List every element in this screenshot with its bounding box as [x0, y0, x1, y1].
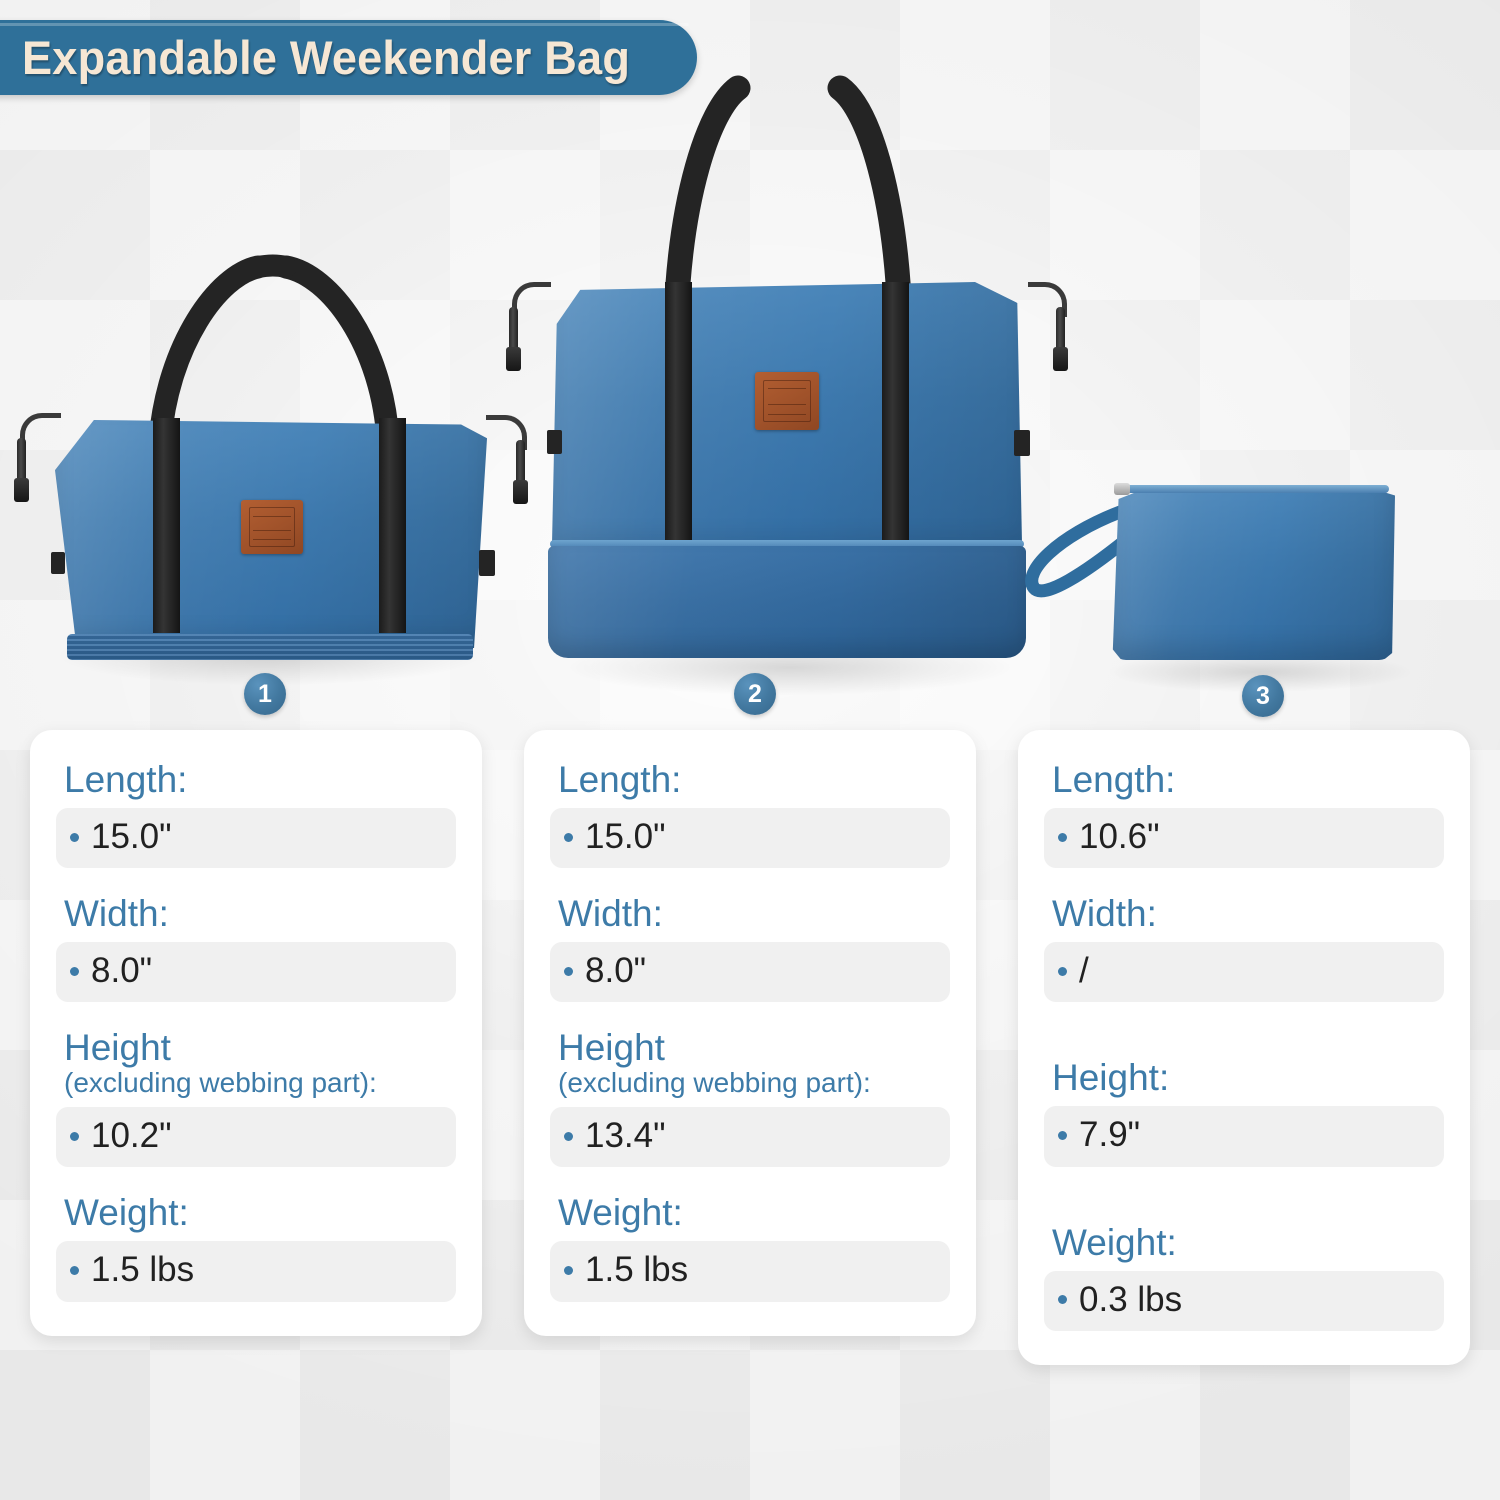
bullet-icon — [1058, 833, 1067, 842]
spec-row-weight: Weight: 1.5 lbs — [550, 1193, 950, 1301]
webbing-strap-right-2 — [882, 282, 909, 544]
spec-label-text: Height — [64, 1027, 171, 1068]
spec-row-width: Width: / — [1044, 894, 1444, 1002]
spec-label-weight: Weight: — [1052, 1223, 1444, 1263]
page-title: Expandable Weekender Bag — [22, 30, 630, 85]
badge-2: 2 — [734, 673, 776, 715]
spec-value-text: 0.3 lbs — [1079, 1280, 1182, 1320]
webbing-strap-left-2 — [665, 282, 692, 544]
spec-label-text: Length: — [1052, 759, 1175, 800]
bag-body-lower-2 — [548, 546, 1026, 658]
spec-value-text: 1.5 lbs — [91, 1250, 194, 1290]
spec-value-text: / — [1079, 951, 1089, 991]
zipper-slider-3 — [1114, 483, 1130, 495]
bullet-icon — [70, 833, 79, 842]
spec-row-length: Length: 15.0" — [550, 760, 950, 868]
bullet-icon — [564, 1132, 573, 1141]
spec-label-length: Length: — [1052, 760, 1444, 800]
bullet-icon — [70, 967, 79, 976]
bag-body-1 — [55, 420, 487, 648]
zipper-top-3 — [1118, 485, 1389, 493]
bullet-icon — [1058, 967, 1067, 976]
spec-value-weight: 1.5 lbs — [550, 1241, 950, 1301]
spec-label-length: Length: — [558, 760, 950, 800]
spec-label-text: Width: — [64, 893, 169, 934]
spec-label-text: Length: — [558, 759, 681, 800]
spec-value-width: 8.0" — [56, 942, 456, 1002]
bag-base-pleats-1 — [67, 634, 473, 660]
spec-value-weight: 1.5 lbs — [56, 1241, 456, 1301]
bullet-icon — [564, 833, 573, 842]
bullet-icon — [70, 1266, 79, 1275]
spec-label-text: Height: — [1052, 1057, 1169, 1098]
badge-3: 3 — [1242, 675, 1284, 717]
spec-label-text: Width: — [1052, 893, 1157, 934]
spec-label-width: Width: — [558, 894, 950, 934]
spec-value-text: 7.9" — [1079, 1115, 1140, 1155]
spec-value-length: 10.6" — [1044, 808, 1444, 868]
badge-1: 1 — [244, 673, 286, 715]
spec-value-text: 10.6" — [1079, 817, 1160, 857]
webbing-strap-right-1 — [379, 418, 406, 633]
bag-body-upper-2 — [552, 282, 1022, 544]
spec-row-height: Height (excluding webbing part): 10.2" — [56, 1028, 456, 1167]
bullet-icon — [564, 967, 573, 976]
spec-label-subtext: (excluding webbing part): — [558, 1068, 950, 1099]
spec-value-text: 8.0" — [91, 951, 152, 991]
spec-label-weight: Weight: — [558, 1193, 950, 1233]
leather-logo-patch-1 — [241, 500, 303, 554]
product-image-1: 1 — [0, 195, 545, 675]
spec-row-height: Height: 7.9" — [1044, 1058, 1444, 1166]
spec-row-width: Width: 8.0" — [56, 894, 456, 1002]
spec-label-text: Weight: — [1052, 1222, 1177, 1263]
product-image-3: 3 — [1000, 440, 1420, 680]
spec-value-height: 10.2" — [56, 1107, 456, 1167]
spec-card-2: Length: 15.0" Width: 8.0" Height — [524, 730, 976, 1336]
spec-value-height: 7.9" — [1044, 1106, 1444, 1166]
spec-value-text: 15.0" — [91, 817, 172, 857]
spec-label-height: Height (excluding webbing part): — [558, 1028, 950, 1099]
spec-label-height: Height: — [1052, 1058, 1444, 1098]
spec-label-subtext: (excluding webbing part): — [64, 1068, 456, 1099]
spec-value-length: 15.0" — [56, 808, 456, 868]
spec-label-text: Weight: — [64, 1192, 189, 1233]
spec-label-text: Weight: — [558, 1192, 683, 1233]
spec-card-3: Length: 10.6" Width: / Height: — [1018, 730, 1470, 1365]
spec-card-1: Length: 15.0" Width: 8.0" Height — [30, 730, 482, 1336]
spec-row-length: Length: 10.6" — [1044, 760, 1444, 868]
spec-value-width: / — [1044, 942, 1444, 1002]
bullet-icon — [1058, 1295, 1067, 1304]
spec-value-width: 8.0" — [550, 942, 950, 1002]
webbing-strap-left-1 — [153, 418, 180, 633]
leather-logo-patch-2 — [755, 372, 819, 430]
spec-label-text: Width: — [558, 893, 663, 934]
spec-row-width: Width: 8.0" — [550, 894, 950, 1002]
spec-label-length: Length: — [64, 760, 456, 800]
spec-row-weight: Weight: 1.5 lbs — [56, 1193, 456, 1301]
bullet-icon — [70, 1132, 79, 1141]
spec-value-weight: 0.3 lbs — [1044, 1271, 1444, 1331]
spec-label-weight: Weight: — [64, 1193, 456, 1233]
spec-row-weight: Weight: 0.3 lbs — [1044, 1223, 1444, 1331]
spec-value-height: 13.4" — [550, 1107, 950, 1167]
spec-row-length: Length: 15.0" — [56, 760, 456, 868]
spec-value-length: 15.0" — [550, 808, 950, 868]
spec-row-height: Height (excluding webbing part): 13.4" — [550, 1028, 950, 1167]
spec-value-text: 15.0" — [585, 817, 666, 857]
title-banner: Expandable Weekender Bag — [0, 20, 697, 95]
spec-label-height: Height (excluding webbing part): — [64, 1028, 456, 1099]
infographic-page: Expandable Weekender Bag — [0, 0, 1500, 1500]
side-tab-left-1 — [51, 552, 65, 574]
spec-label-width: Width: — [64, 894, 456, 934]
spec-cards-container: Length: 15.0" Width: 8.0" Height — [0, 730, 1500, 1365]
spec-label-text: Height — [558, 1027, 665, 1068]
spec-value-text: 13.4" — [585, 1116, 666, 1156]
bullet-icon — [564, 1266, 573, 1275]
spec-label-width: Width: — [1052, 894, 1444, 934]
spec-value-text: 8.0" — [585, 951, 646, 991]
bullet-icon — [1058, 1131, 1067, 1140]
side-tab-left-2 — [547, 430, 562, 454]
spec-value-text: 1.5 lbs — [585, 1250, 688, 1290]
spec-label-text: Length: — [64, 759, 187, 800]
pouch-body-3 — [1110, 485, 1395, 660]
spec-value-text: 10.2" — [91, 1116, 172, 1156]
